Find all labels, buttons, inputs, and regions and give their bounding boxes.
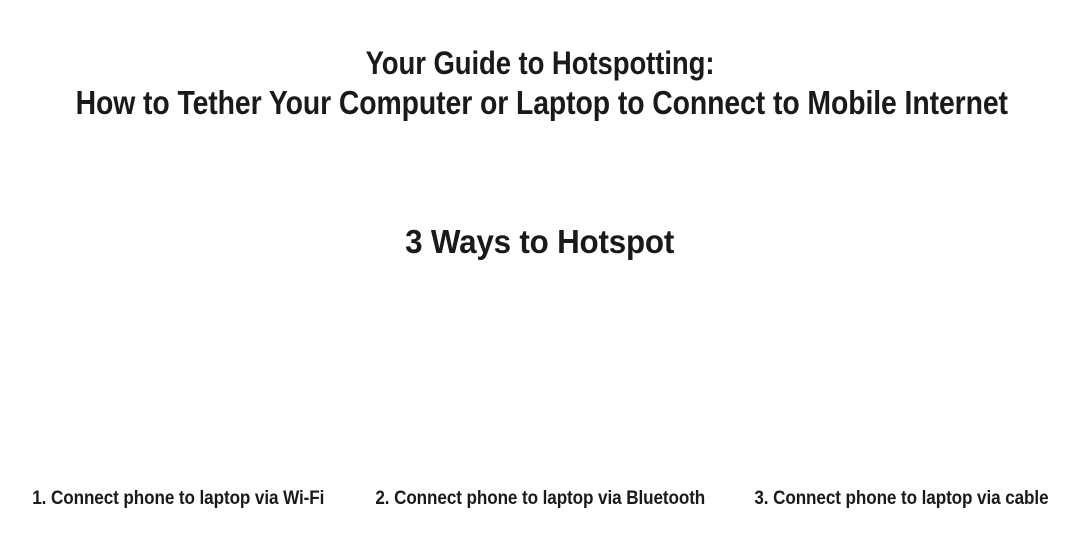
step-item-wifi: 1. Connect phone to laptop via Wi-Fi [0,487,357,511]
section-heading: 3 Ways to Hotspot [0,222,1080,262]
illustration-slot-cable [720,282,1080,480]
step-item-cable: 3. Connect phone to laptop via cable [723,487,1080,511]
illustration-band [0,282,1080,480]
illustration-slot-bluetooth [360,282,720,480]
step-caption-bluetooth: 2. Connect phone to laptop via Bluetooth [375,487,705,511]
illustration-slot-wifi [0,282,360,480]
page-title-line-2: How to Tether Your Computer or Laptop to… [76,83,1005,122]
page-title-line-1: Your Guide to Hotspotting: [76,44,1005,83]
step-caption-cable: 3. Connect phone to laptop via cable [755,487,1049,511]
step-caption-wifi: 1. Connect phone to laptop via Wi-Fi [32,487,324,511]
step-list: 1. Connect phone to laptop via Wi-Fi 2. … [0,487,1080,511]
section-heading-label: 3 Ways to Hotspot [405,222,674,262]
step-item-bluetooth: 2. Connect phone to laptop via Bluetooth [357,487,724,511]
infographic-page: Your Guide to Hotspotting: How to Tether… [0,0,1080,552]
page-title: Your Guide to Hotspotting: How to Tether… [0,44,1080,122]
